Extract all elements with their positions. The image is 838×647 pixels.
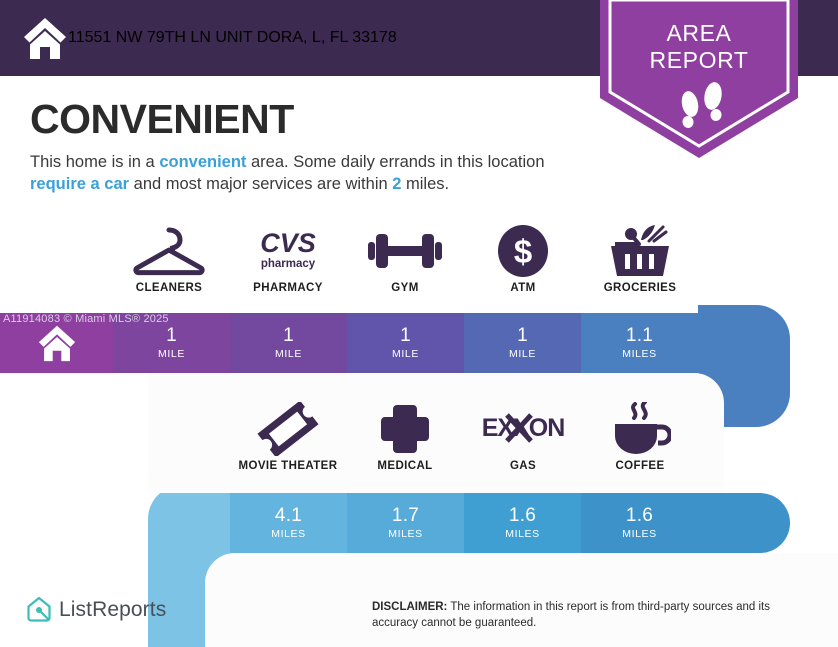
- distance-value: 1: [517, 326, 528, 345]
- listreports-pin-icon: [26, 596, 52, 623]
- listreports-logo-text: ListReports: [59, 598, 166, 622]
- ticket-icon: [257, 400, 319, 458]
- distance-unit: MILES: [271, 528, 306, 540]
- distance-cell-movie-theater: 4.1 MILES: [230, 493, 347, 553]
- category-label: GAS: [510, 460, 536, 472]
- distance-cell-gym: 1 MILE: [347, 313, 464, 373]
- svg-text:CVS: CVS: [260, 228, 316, 258]
- listreports-logo[interactable]: ListReports: [26, 596, 166, 623]
- category-label: CLEANERS: [136, 282, 202, 294]
- category-gym: GYM: [346, 222, 464, 312]
- distance-cell-coffee: 1.6 MILES: [581, 493, 698, 553]
- category-label: MOVIE THEATER: [239, 460, 338, 472]
- category-pharmacy: CVS pharmacy PHARMACY: [229, 222, 347, 312]
- distance-value: 1: [283, 326, 294, 345]
- category-coffee: COFFEE: [581, 400, 699, 490]
- distance-value: 1.7: [392, 506, 419, 525]
- distance-value: 1.1: [626, 326, 653, 345]
- distance-unit: MILE: [158, 348, 185, 360]
- svg-text:$: $: [514, 233, 532, 270]
- summary-part-1: This home is in a: [30, 153, 159, 171]
- home-icon: [22, 16, 68, 60]
- summary-part-3: and most major services are within: [129, 175, 392, 193]
- distance-unit: MILE: [509, 348, 536, 360]
- summary-text: This home is in a convenient area. Some …: [30, 152, 600, 196]
- path-end-cap: [698, 493, 790, 553]
- distance-unit: MILES: [622, 528, 657, 540]
- distance-cell-pharmacy: 1 MILE: [230, 313, 347, 373]
- distance-bar-row-2: 4.1 MILES 1.7 MILES 1.6 MILES 1.6 MILES: [148, 493, 790, 553]
- mls-watermark: A11914083 © Miami MLS® 2025: [3, 313, 169, 325]
- distance-cell-groceries: 1.1 MILES: [581, 313, 698, 373]
- basket-icon: [609, 222, 671, 280]
- category-label: PHARMACY: [253, 282, 323, 294]
- category-icon-row-2: MOVIE THEATER MEDICAL EXXON GAS: [0, 400, 838, 490]
- distance-value: 1: [400, 326, 411, 345]
- category-label: MEDICAL: [377, 460, 432, 472]
- disclaimer-label: DISCLAIMER:: [372, 601, 447, 613]
- summary-highlight-1: convenient: [159, 153, 246, 171]
- category-label: ATM: [510, 282, 535, 294]
- header-address: 11551 NW 79TH LN UNIT DORA, L, FL 33178: [68, 29, 397, 47]
- distance-value: 1.6: [626, 506, 653, 525]
- category-movie-theater: MOVIE THEATER: [229, 400, 347, 490]
- hanger-icon: [132, 222, 206, 280]
- distance-value: 4.1: [275, 506, 302, 525]
- summary-part-4: miles.: [401, 175, 449, 193]
- category-cleaners: CLEANERS: [110, 222, 228, 312]
- dollar-coin-icon: $: [496, 222, 550, 280]
- summary-part-2: area. Some daily errands in this locatio…: [246, 153, 544, 171]
- distance-unit: MILE: [275, 348, 302, 360]
- category-icon-row-1: CLEANERS CVS pharmacy PHARMACY GYM: [0, 222, 838, 312]
- distance-unit: MILE: [392, 348, 419, 360]
- distance-cell-atm: 1 MILE: [464, 313, 581, 373]
- category-groceries: GROCERIES: [581, 222, 699, 312]
- distance-unit: MILES: [505, 528, 540, 540]
- summary-highlight-2: require a car: [30, 175, 129, 193]
- disclaimer: DISCLAIMER: The information in this repo…: [372, 600, 812, 631]
- page-title: CONVENIENT: [30, 96, 294, 143]
- svg-text:pharmacy: pharmacy: [261, 258, 316, 270]
- category-label: GYM: [391, 282, 418, 294]
- badge-label: AREA REPORT: [600, 20, 798, 74]
- distance-unit: MILES: [388, 528, 423, 540]
- category-label: COFFEE: [615, 460, 664, 472]
- category-label: GROCERIES: [604, 282, 677, 294]
- coffee-cup-icon: [609, 400, 671, 458]
- area-report-badge: AREA REPORT: [600, 0, 798, 158]
- exxon-logo-icon: EXXON: [480, 400, 566, 458]
- distance-cell-medical: 1.7 MILES: [347, 493, 464, 553]
- medical-cross-icon: [379, 400, 431, 458]
- distance-cell-gas: 1.6 MILES: [464, 493, 581, 553]
- category-atm: $ ATM: [464, 222, 582, 312]
- distance-unit: MILES: [622, 348, 657, 360]
- cvs-logo-icon: CVS pharmacy: [244, 222, 332, 280]
- path-entry-cell: [148, 493, 230, 553]
- distance-value: 1: [166, 326, 177, 345]
- dumbbell-icon: [367, 222, 443, 280]
- distance-value: 1.6: [509, 506, 536, 525]
- category-gas: EXXON GAS: [464, 400, 582, 490]
- category-medical: MEDICAL: [346, 400, 464, 490]
- svg-text:EXXON: EXXON: [482, 414, 565, 442]
- home-icon: [36, 324, 78, 362]
